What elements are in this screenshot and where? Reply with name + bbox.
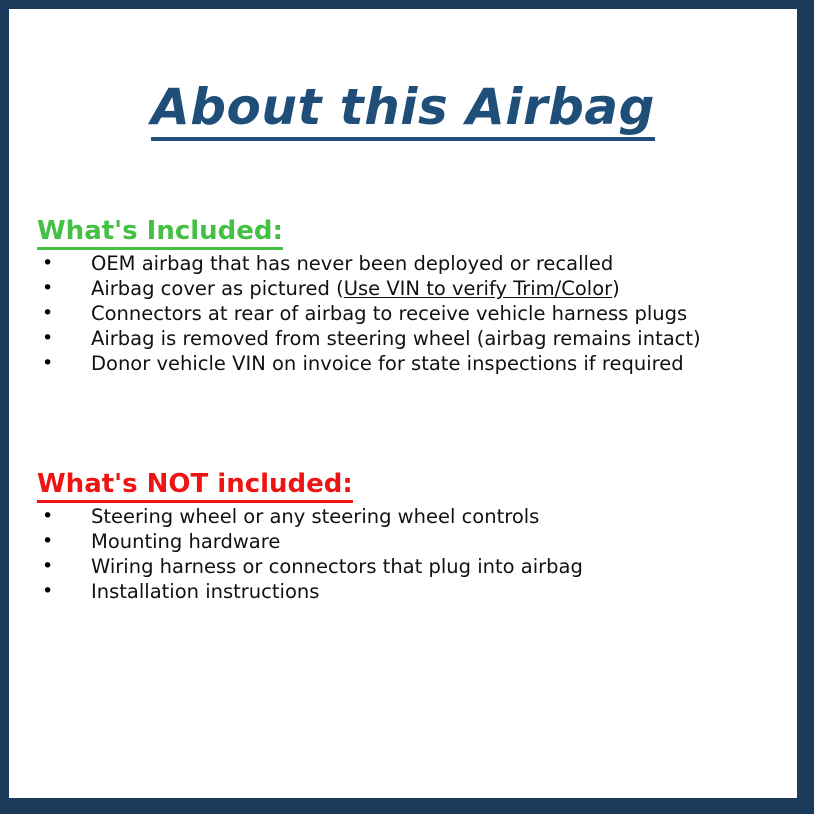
bullet-icon: • <box>42 276 54 301</box>
section-heading-not-included: What's NOT included: <box>37 470 353 503</box>
page-title: About this Airbag <box>151 81 655 141</box>
list-item-label: Wiring harness or connectors that plug i… <box>91 554 583 579</box>
bullet-icon: • <box>42 326 54 351</box>
list-item-label: Mounting hardware <box>91 529 280 554</box>
section-heading-included: What's Included: <box>37 217 283 250</box>
bullet-icon: • <box>42 554 54 579</box>
info-card: About this Airbag What's Included: •OEM … <box>0 0 814 814</box>
list-item-label: OEM airbag that has never been deployed … <box>91 251 613 276</box>
bullet-icon: • <box>42 579 54 604</box>
list-item-label: Steering wheel or any steering wheel con… <box>91 504 539 529</box>
page-title-container: About this Airbag <box>9 81 797 141</box>
list-item-label: Airbag is removed from steering wheel (a… <box>91 326 701 351</box>
bullet-icon: • <box>42 251 54 276</box>
emphasis-underlined-text: Use VIN to verify Trim/Color <box>344 277 612 300</box>
list-item-label: Connectors at rear of airbag to receive … <box>91 301 687 326</box>
bullet-icon: • <box>42 351 54 376</box>
list-item-label: Installation instructions <box>91 579 319 604</box>
bullet-icon: • <box>42 529 54 554</box>
list-item-label: Donor vehicle VIN on invoice for state i… <box>91 351 684 376</box>
bullet-icon: • <box>42 504 54 529</box>
bullet-icon: • <box>42 301 54 326</box>
card-canvas: About this Airbag What's Included: •OEM … <box>9 9 797 798</box>
list-item-label: Airbag cover as pictured (Use VIN to ver… <box>91 276 620 301</box>
